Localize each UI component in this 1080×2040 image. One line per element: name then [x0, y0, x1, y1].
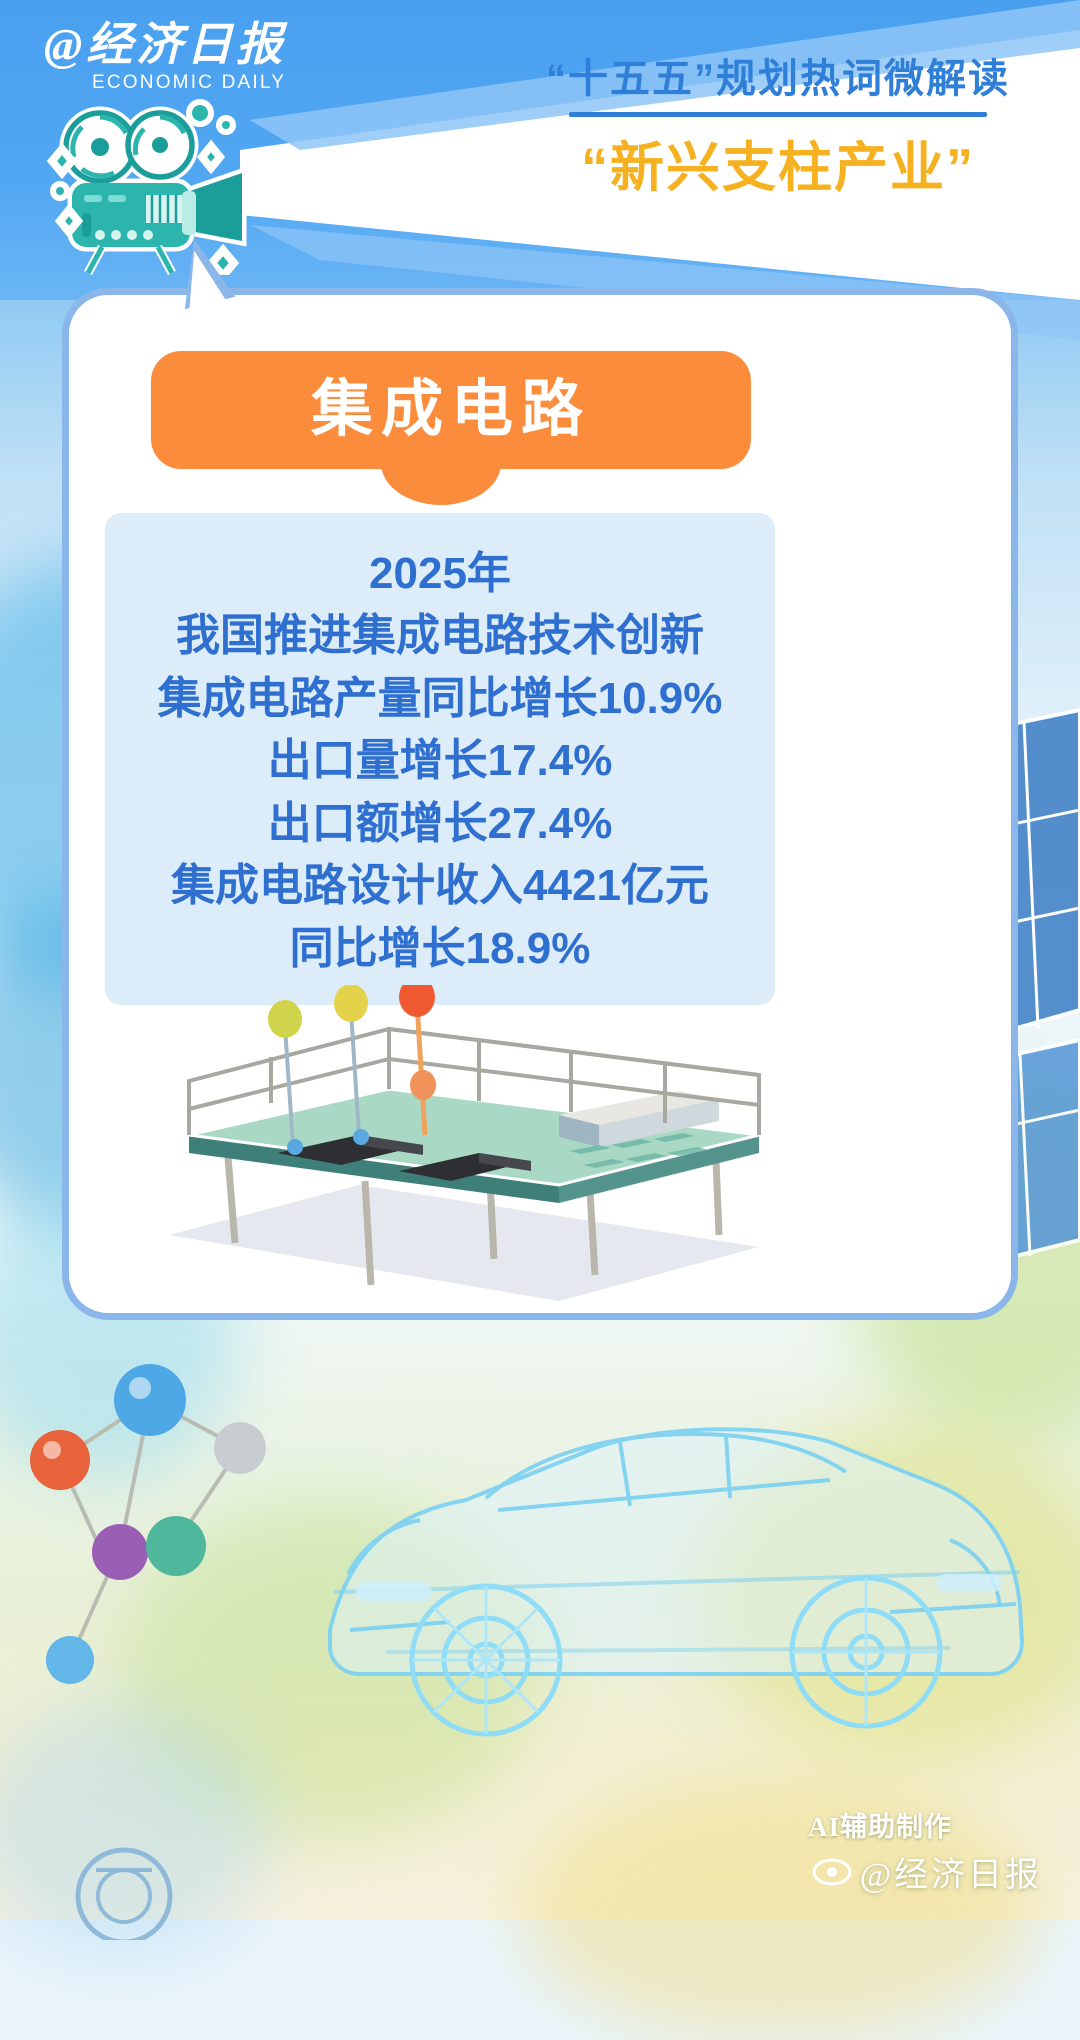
weibo-eye-icon	[812, 1858, 852, 1886]
statistics-panel: 2025年 我国推进集成电路技术创新 集成电路产量同比增长10.9% 出口量增长…	[105, 513, 775, 1005]
category-banner: 集成电路	[151, 351, 751, 469]
brand-logo-cn: @经济日报	[44, 22, 286, 68]
at-symbol: @	[44, 19, 86, 70]
weibo-watermark: @经济日报	[812, 1847, 1042, 1896]
stat-line: 2025年	[369, 543, 511, 605]
series-title: “十五五”规划热词微解读	[518, 46, 1038, 104]
ai-credit-label: AI辅助制作	[808, 1805, 952, 1844]
category-banner-label: 集成电路	[311, 379, 591, 441]
brand-name-cn: 经济日报	[86, 19, 286, 70]
brand-logo: @经济日报 ECONOMIC DAILY	[44, 22, 286, 94]
electric-car-illustration	[290, 1330, 1050, 1750]
category-banner-notch	[381, 463, 501, 505]
stat-line: 同比增长18.9%	[290, 918, 591, 980]
stat-line: 我国推进集成电路技术创新	[176, 605, 704, 667]
watercolor-blob	[520, 1780, 1040, 2040]
headline-divider	[569, 112, 987, 117]
battery-cell-illustration	[60, 1830, 220, 1940]
main-content-card: 集成电路 2025年 我国推进集成电路技术创新 集成电路产量同比增长10.9% …	[62, 288, 1018, 1320]
stat-line: 集成电路产量同比增长10.9%	[158, 668, 723, 730]
brand-name-en: ECONOMIC DAILY	[92, 72, 286, 94]
stat-line: 出口量增长17.4%	[268, 730, 613, 792]
headline-block: “十五五”规划热词微解读 “新兴支柱产业”	[518, 46, 1038, 202]
circuit-board-platform-illustration	[159, 985, 779, 1305]
molecule-model-illustration	[0, 1340, 330, 1700]
weibo-handle: @经济日报	[860, 1847, 1042, 1896]
stat-line: 出口额增长27.4%	[268, 793, 613, 855]
film-projector-icon	[30, 95, 280, 275]
topic-title: “新兴支柱产业”	[518, 123, 1038, 202]
stat-line: 集成电路设计收入4421亿元	[171, 855, 709, 917]
